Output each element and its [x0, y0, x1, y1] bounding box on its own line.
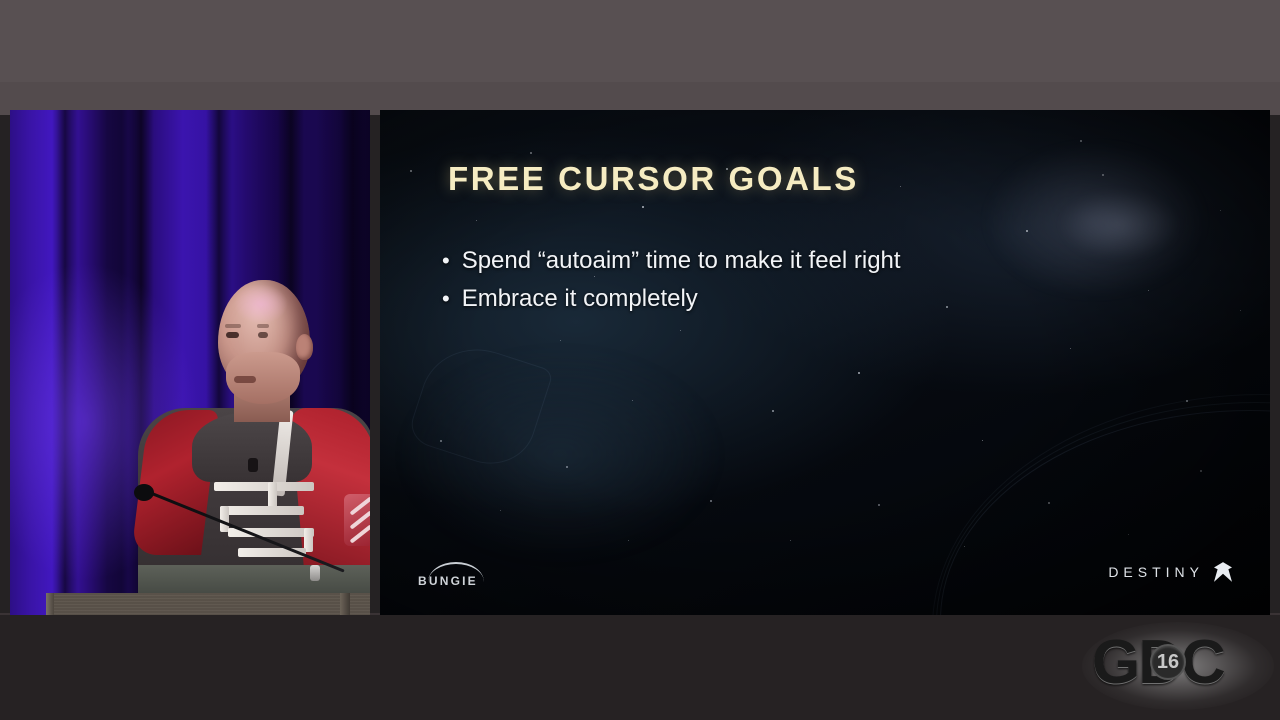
bullet-marker-icon: •: [442, 280, 450, 318]
list-item: • Embrace it completely: [442, 280, 1202, 318]
gdc-watermark: GDC 16: [1092, 628, 1264, 702]
speaker-brow: [225, 324, 241, 328]
speaker-shirt-graphic: [214, 476, 318, 562]
podium-edge-left: [46, 593, 54, 615]
speaker-eye: [258, 332, 268, 338]
list-item: • Spend “autoaim” time to make it feel r…: [442, 242, 1202, 280]
bungie-logo-text: BUNGIE: [418, 574, 478, 588]
conference-talk-video[interactable]: GDC 16: [10, 110, 370, 615]
bullet-text: Embrace it completely: [462, 280, 698, 318]
slide-title: FREE CURSOR GOALS: [448, 160, 859, 198]
speaker-brow: [257, 324, 269, 328]
slide-bullet-list: • Spend “autoaim” time to make it feel r…: [442, 242, 1202, 318]
window-top-band: [0, 0, 1280, 82]
bullet-text: Spend “autoaim” time to make it feel rig…: [462, 242, 901, 280]
speaker-mouth: [234, 376, 256, 383]
watermark-gdc-year-badge: 16: [1150, 644, 1186, 680]
speaker-jacket-patch: [344, 494, 370, 546]
speaker-eye: [226, 332, 239, 338]
destiny-logo: DESTINY: [1108, 562, 1232, 582]
bullet-marker-icon: •: [442, 242, 450, 280]
destiny-tricorn-icon: [1214, 562, 1232, 582]
speaker-head-highlight: [234, 284, 288, 324]
bungie-logo: BUNGIE: [418, 560, 518, 594]
podium-gdc-logo: GDC: [72, 605, 262, 615]
microphone-head-icon: [134, 484, 154, 501]
presentation-slide[interactable]: FREE CURSOR GOALS • Spend “autoaim” time…: [380, 110, 1270, 615]
lapel-microphone: [248, 458, 258, 472]
podium-edge-right: [340, 593, 350, 615]
speaker-ear: [296, 334, 313, 360]
destiny-logo-text: DESTINY: [1108, 564, 1204, 580]
microphone-stand: [310, 565, 320, 581]
